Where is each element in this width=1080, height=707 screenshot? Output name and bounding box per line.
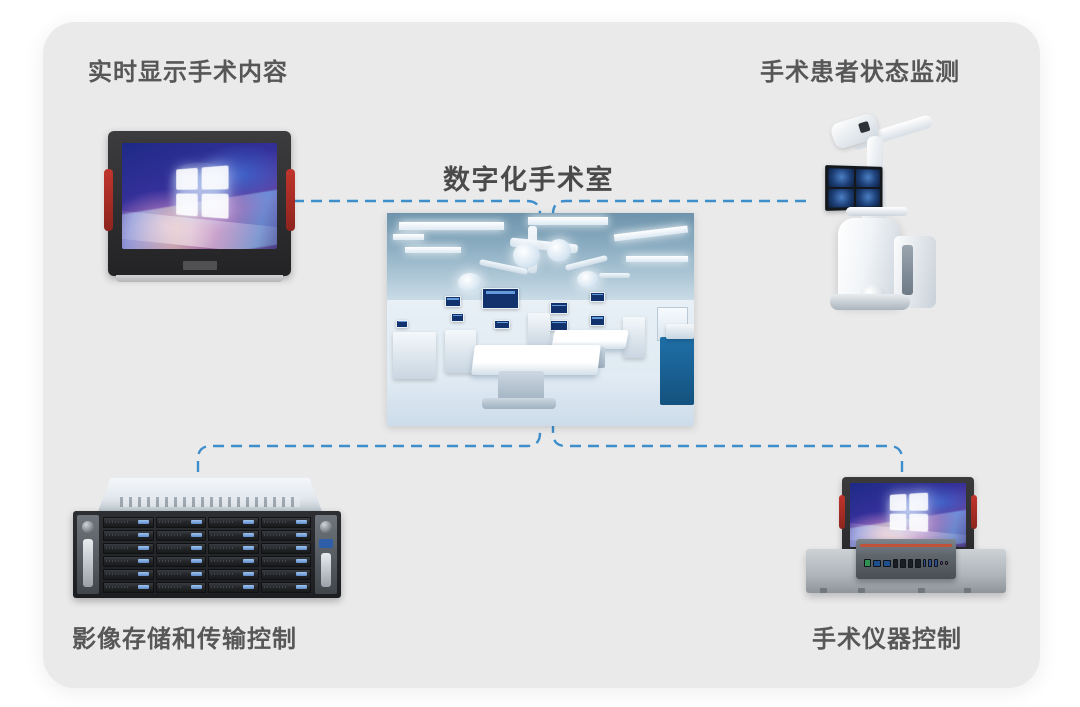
drive-bay — [103, 530, 154, 541]
server-right-ear — [315, 515, 337, 594]
ipc-io-panel — [862, 552, 950, 574]
connector-bottom-right — [553, 426, 902, 472]
drive-bay — [261, 569, 312, 580]
server-left-ear — [77, 515, 99, 594]
center-title: 数字化手术室 — [443, 158, 614, 197]
windows-wallpaper — [850, 483, 966, 547]
ipc-accent-stripe — [860, 544, 952, 547]
windows-wallpaper — [122, 143, 277, 249]
drive-bay — [208, 530, 259, 541]
drive-bay — [156, 543, 207, 554]
drive-bay — [208, 556, 259, 567]
ipc-chassis — [856, 539, 956, 579]
monitor-handle-left — [104, 169, 113, 231]
monitor-foot — [116, 275, 283, 282]
label-patient-monitoring: 手术患者状态监测 — [760, 52, 960, 87]
cart-display-screen — [825, 165, 882, 211]
vga-port-icon — [873, 560, 881, 567]
ipc-monitor-handle-left — [839, 495, 845, 529]
hdmi-port-icon — [883, 560, 891, 567]
monitor-brand-logo — [183, 261, 217, 270]
cart-handle-ring — [846, 207, 908, 216]
ipc-monitor-screen — [850, 483, 966, 547]
audio-jack-icon — [940, 561, 943, 565]
diagram-canvas: 实时显示手术内容 手术患者状态监测 影像存储和传输控制 手术仪器控制 数字化手术… — [0, 0, 1080, 707]
drive-bay — [156, 569, 207, 580]
drive-bay — [156, 517, 207, 528]
ipc-feet — [806, 585, 1006, 593]
drive-bay — [103, 582, 154, 593]
cart-base — [830, 294, 910, 310]
drive-bay — [103, 517, 154, 528]
drive-bay — [261, 582, 312, 593]
lan-port-icon — [908, 559, 913, 568]
drive-bay — [156, 530, 207, 541]
device-mobile-imaging-cart — [810, 108, 970, 313]
connector-bottom-left — [198, 426, 540, 472]
label-display: 实时显示手术内容 — [88, 52, 288, 87]
server-top-cover — [97, 478, 323, 514]
drive-bay — [156, 582, 207, 593]
lan-port-icon — [893, 559, 898, 568]
lan-port-icon — [900, 559, 905, 568]
drive-bay — [103, 556, 154, 567]
server-front-panel — [73, 511, 341, 598]
power-connector-icon — [864, 559, 871, 567]
drive-bay — [103, 569, 154, 580]
device-medical-panel-monitor — [108, 131, 291, 276]
windows-logo-icon — [890, 493, 929, 532]
drive-bay — [261, 556, 312, 567]
label-storage: 影像存储和传输控制 — [72, 619, 297, 654]
drive-bay — [208, 517, 259, 528]
ipc-monitor-handle-right — [971, 495, 977, 529]
usb-port-icon — [934, 559, 938, 567]
operating-room-photo — [387, 213, 694, 426]
drive-bay — [208, 569, 259, 580]
windows-logo-icon — [176, 165, 228, 218]
device-industrial-pc — [806, 477, 1006, 599]
usb-port-icon — [928, 559, 932, 567]
monitor-screen — [122, 143, 277, 249]
drive-bay — [261, 517, 312, 528]
drive-bay — [156, 556, 207, 567]
drive-bay — [103, 543, 154, 554]
audio-jack-icon — [945, 561, 948, 565]
drive-bay — [261, 530, 312, 541]
device-storage-server — [73, 478, 341, 598]
lan-port-icon — [915, 559, 920, 568]
drive-bay — [208, 543, 259, 554]
usb-port-icon — [923, 559, 927, 567]
drive-bay — [208, 582, 259, 593]
server-drive-bay-grid — [103, 517, 311, 593]
drive-bay — [261, 543, 312, 554]
label-instrument-control: 手术仪器控制 — [812, 619, 962, 654]
monitor-handle-right — [286, 169, 295, 231]
